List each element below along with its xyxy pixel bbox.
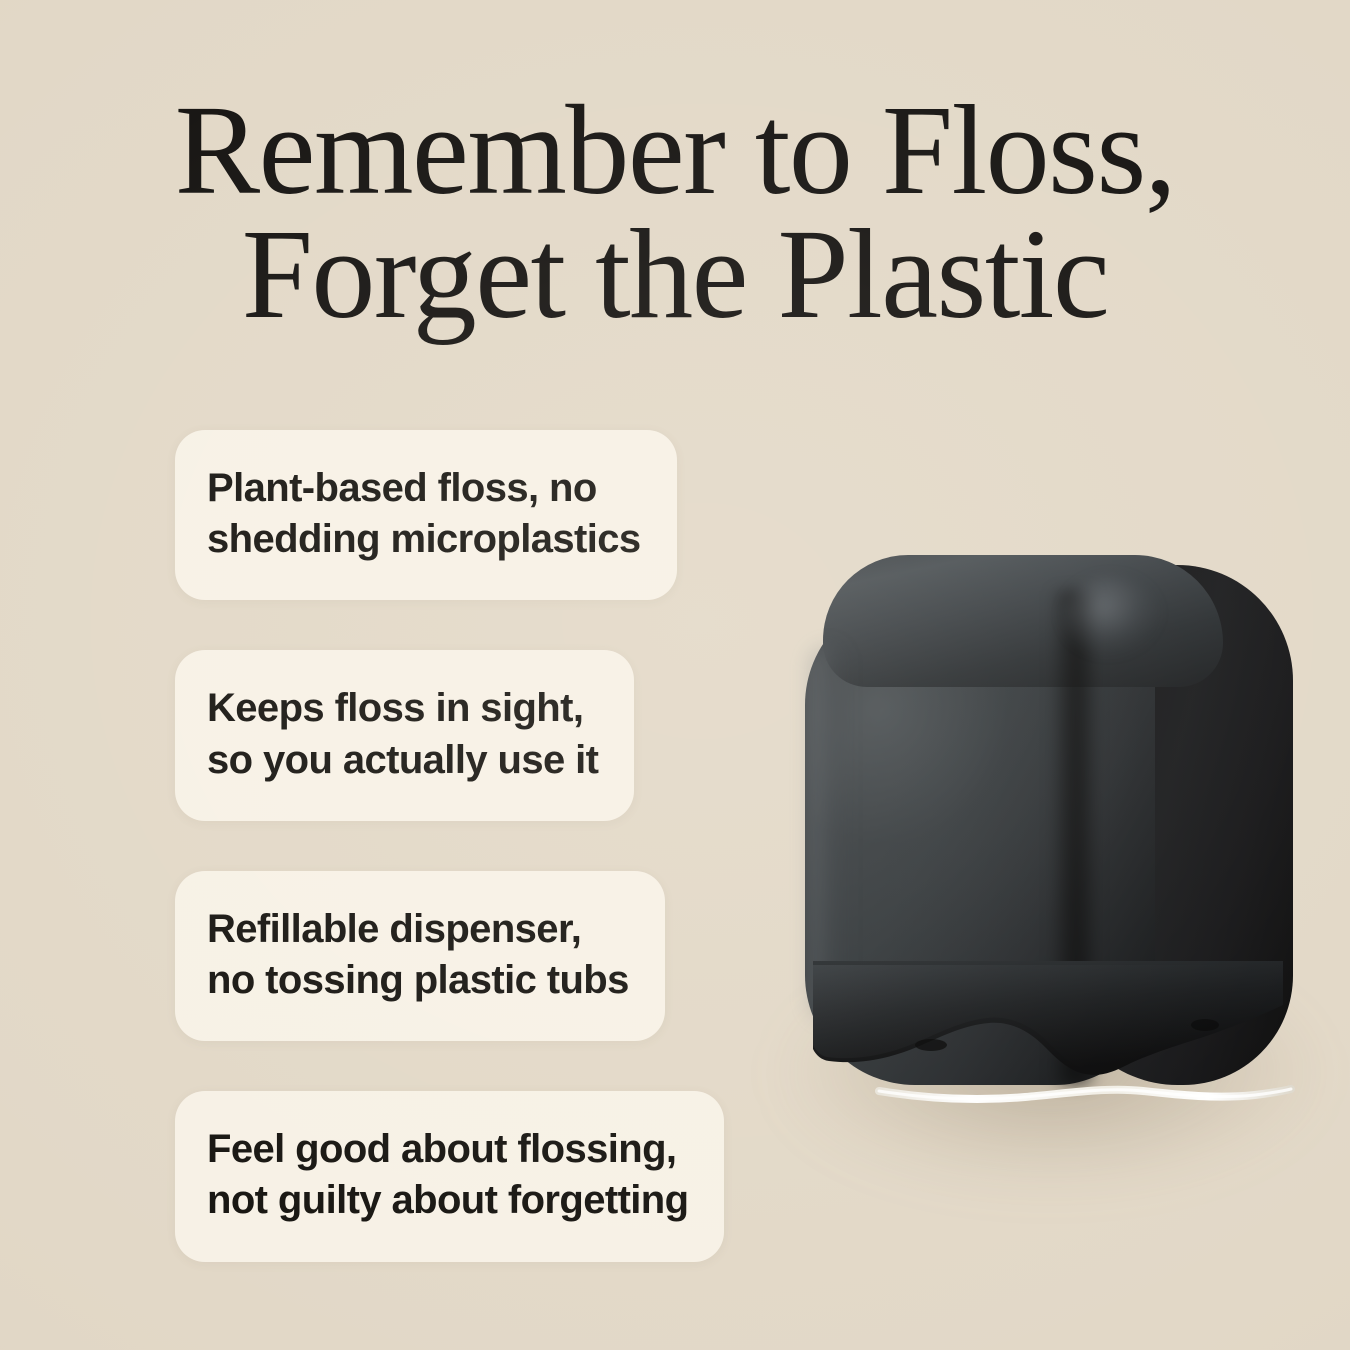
feature-pill-2: Keeps floss in sight, so you actually us… xyxy=(175,650,634,820)
feature-pill-1: Plant-based floss, no shedding microplas… xyxy=(175,430,677,600)
feature-pill-3-label: Refillable dispenser, no tossing plastic… xyxy=(207,904,629,1006)
dispenser-highlight xyxy=(1063,577,1159,655)
feature-pill-1-label: Plant-based floss, no shedding microplas… xyxy=(207,463,641,565)
floss-strand xyxy=(875,1075,1295,1115)
feature-pill-2-label: Keeps floss in sight, so you actually us… xyxy=(207,683,598,785)
feature-list: Plant-based floss, no shedding microplas… xyxy=(175,430,724,1262)
feature-pill-4: Feel good about flossing, not guilty abo… xyxy=(175,1091,724,1261)
floss-dispenser-body xyxy=(805,555,1293,1085)
feature-pill-3: Refillable dispenser, no tossing plastic… xyxy=(175,871,665,1041)
poster-canvas: Remember to Floss, Forget the Plastic xyxy=(0,0,1350,1350)
product-image xyxy=(760,500,1350,1200)
feature-pill-4-label: Feel good about flossing, not guilty abo… xyxy=(207,1124,688,1226)
dispenser-top-bevel xyxy=(823,555,1223,687)
page-title: Remember to Floss, Forget the Plastic xyxy=(0,88,1350,336)
